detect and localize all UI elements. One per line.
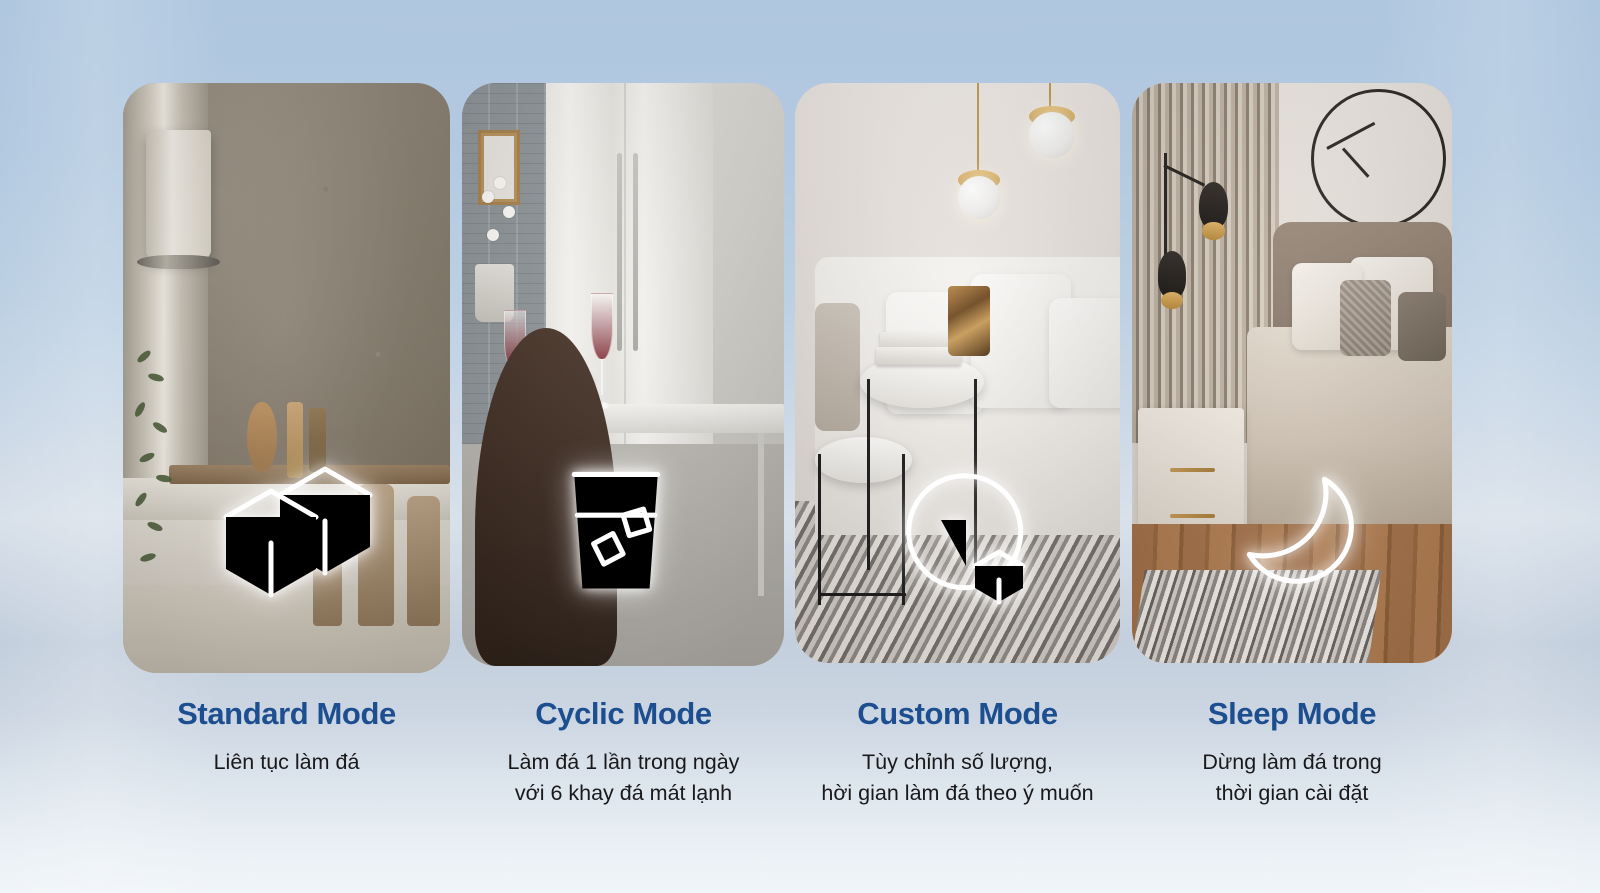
mode-description-line: Dừng làm đá trong [1127, 747, 1457, 778]
mode-description: Làm đá 1 lần trong ngày với 6 khay đá má… [455, 747, 792, 809]
clock-with-ice-cube-icon [891, 458, 1041, 608]
mode-description-line: thời gian cài đặt [1127, 778, 1457, 809]
mode-feature-banner: Standard Mode Liên tục làm đá Cyclic Mod… [0, 0, 1600, 893]
mode-card-sleep[interactable] [1132, 83, 1452, 663]
mode-description: Dừng làm đá trong thời gian cài đặt [1127, 747, 1457, 809]
mode-caption-standard: Standard Mode Liên tục làm đá [123, 697, 450, 778]
mode-title: Sleep Mode [1127, 697, 1457, 731]
mode-description-line: Tùy chỉnh số lượng, [785, 747, 1130, 778]
mode-description-line: với 6 khay đá mát lạnh [455, 778, 792, 809]
mode-title: Standard Mode [123, 697, 450, 731]
mode-description-line: hời gian làm đá theo ý muốn [785, 778, 1130, 809]
mode-caption-cyclic: Cyclic Mode Làm đá 1 lần trong ngày với … [455, 697, 792, 809]
ice-cubes-icon [218, 455, 378, 605]
mode-title: Custom Mode [785, 697, 1130, 731]
mode-card-standard[interactable] [123, 83, 450, 673]
mode-description-line: Làm đá 1 lần trong ngày [455, 747, 792, 778]
mode-description: Liên tục làm đá [123, 747, 450, 778]
mode-description-line: Liên tục làm đá [123, 747, 450, 778]
crescent-moon-icon [1227, 461, 1359, 593]
mode-title: Cyclic Mode [455, 697, 792, 731]
mode-caption-custom: Custom Mode Tùy chỉnh số lượng, hời gian… [785, 697, 1130, 809]
mode-caption-sleep: Sleep Mode Dừng làm đá trong thời gian c… [1127, 697, 1457, 809]
glass-with-ice-icon [560, 468, 672, 596]
mode-description: Tùy chỉnh số lượng, hời gian làm đá theo… [785, 747, 1130, 809]
mode-card-custom[interactable] [795, 83, 1120, 663]
mode-card-cyclic[interactable] [462, 83, 784, 666]
